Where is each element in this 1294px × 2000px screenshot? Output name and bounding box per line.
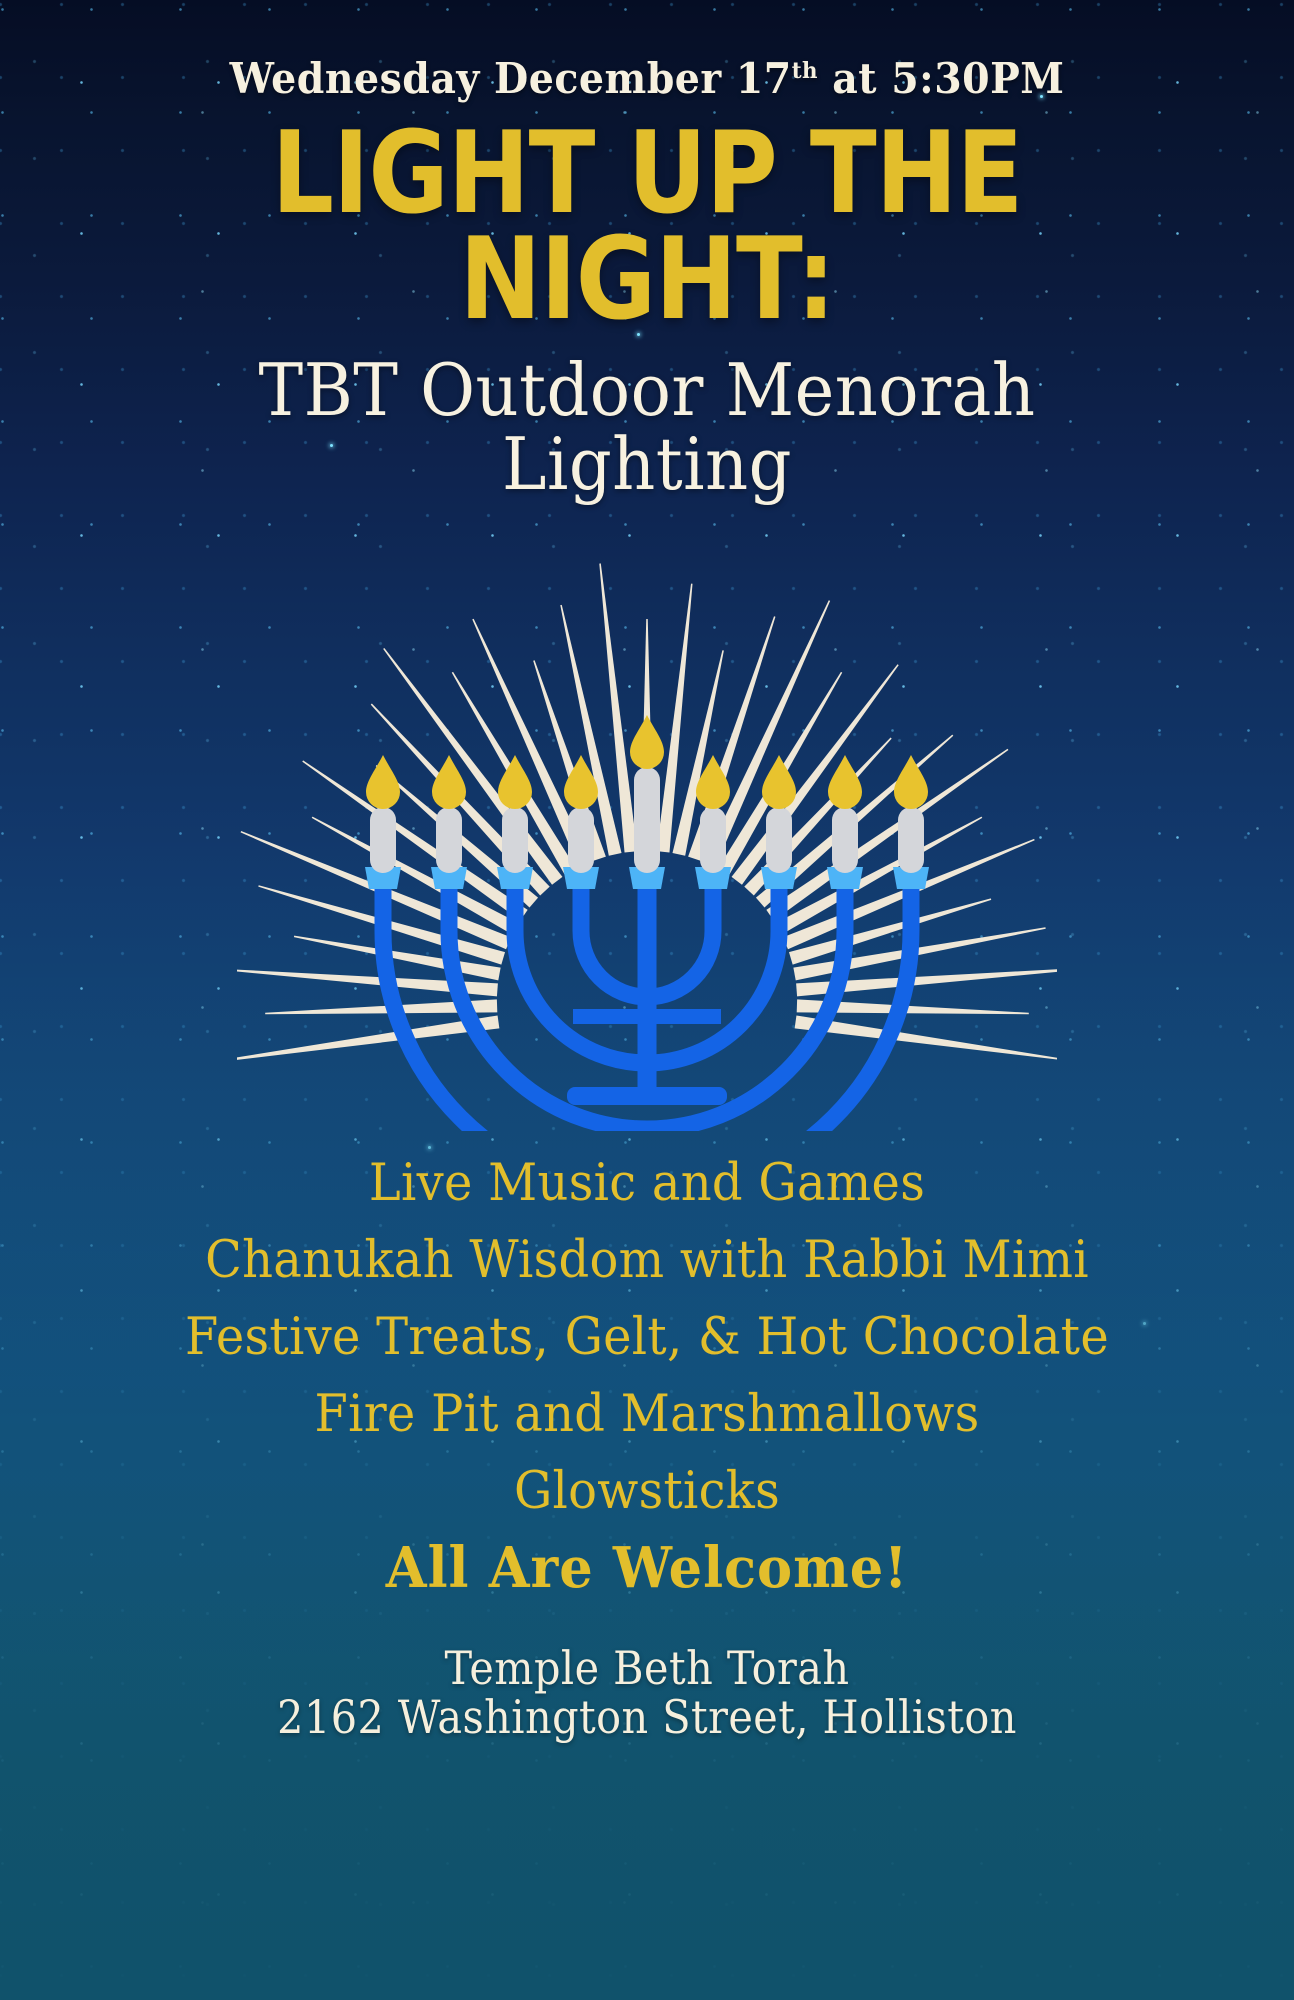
candle — [898, 807, 924, 873]
venue-address: Temple Beth Torah 2162 Washington Street… — [65, 1644, 1230, 1742]
event-date-ordinal: th — [792, 58, 818, 84]
hanukkah-event-poster: Wednesday December 17th at 5:30PM LIGHT … — [0, 0, 1294, 2000]
feature-item: Fire Pit and Marshmallows — [39, 1376, 1255, 1453]
candle — [700, 807, 726, 873]
candle-flame — [828, 755, 862, 809]
feature-item: Chanukah Wisdom with Rabbi Mimi — [39, 1222, 1255, 1299]
poster-subtitle-line1: TBT Outdoor Menorah — [45, 354, 1248, 427]
feature-list: Live Music and Games Chanukah Wisdom wit… — [0, 1145, 1294, 1596]
candle — [436, 807, 462, 873]
venue-name: Temple Beth Torah — [65, 1644, 1230, 1693]
poster-title-line2: NIGHT: — [0, 226, 1294, 332]
poster-title-line1: LIGHT UP THE — [0, 120, 1294, 226]
light-ray — [294, 936, 501, 981]
feature-item: Live Music and Games — [39, 1145, 1255, 1222]
menorah-icon — [237, 531, 1057, 1131]
candle-flame — [366, 755, 400, 809]
menorah-foot — [567, 1087, 727, 1105]
candle — [502, 807, 528, 873]
menorah-illustration — [0, 531, 1294, 1131]
candle-flame — [432, 755, 466, 809]
event-date-line: Wednesday December 17th at 5:30PM — [39, 0, 1255, 100]
all-are-welcome-text: All Are Welcome! — [39, 1530, 1255, 1596]
poster-title: LIGHT UP THE NIGHT: — [0, 120, 1294, 333]
candle — [832, 807, 858, 873]
light-ray — [795, 1016, 1057, 1061]
menorah-crossbar — [573, 1009, 721, 1024]
light-ray — [237, 1016, 499, 1064]
candle — [568, 807, 594, 873]
candle-flame — [630, 715, 664, 769]
poster-subtitle: TBT Outdoor Menorah Lighting — [45, 354, 1248, 501]
candle — [634, 767, 660, 873]
feature-item: Glowsticks — [39, 1453, 1255, 1530]
poster-subtitle-line2: Lighting — [45, 428, 1248, 501]
event-date-suffix: at 5:30PM — [818, 54, 1064, 103]
candle — [370, 807, 396, 873]
candle — [766, 807, 792, 873]
venue-street: 2162 Washington Street, Holliston — [65, 1693, 1230, 1742]
poster-content: Wednesday December 17th at 5:30PM LIGHT … — [0, 0, 1294, 1742]
feature-item: Festive Treats, Gelt, & Hot Chocolate — [39, 1299, 1255, 1376]
event-date-prefix: Wednesday December 17 — [230, 54, 792, 103]
